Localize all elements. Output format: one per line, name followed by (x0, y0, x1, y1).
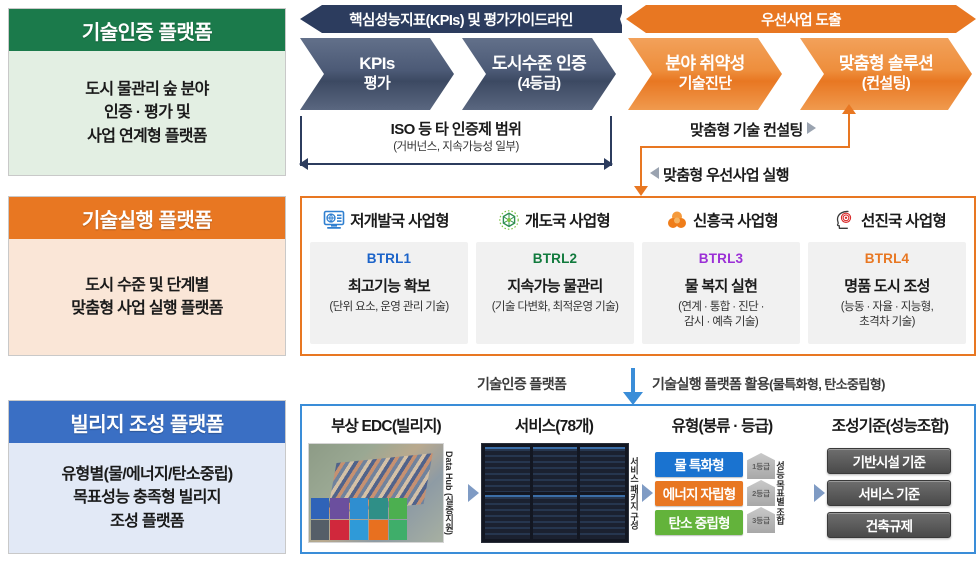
panel-certification-line: 도시 물관리 숲 분야 인증 · 평가 및 사업 연계형 플랫폼 (85, 78, 208, 148)
photo-service-tiles (311, 498, 407, 540)
btrl-panel: 저개발국 사업형 개도국 사업형 (300, 196, 976, 356)
banner-kpi-guideline: 핵심성능지표(KPIs) 및 평가가이드라인 (300, 5, 622, 33)
banner-priority-project: 우선사업 도출 (626, 5, 976, 33)
stage-2-sub: (4등급) (518, 75, 561, 93)
panel-execution-platform: 기술실행 플랫폼 도시 수준 및 단계별 맞춤형 사업 실행 플랫폼 (8, 196, 286, 356)
panel-village-body: 유형별(물/에너지/탄소중립) 목표성능 충족형 빌리지 조성 플랫폼 (9, 443, 285, 553)
label-execution-platform-usage-detail: (물특화형, 탄소중립형) (769, 377, 885, 392)
btrl-column-header-1-label: 저개발국 사업형 (350, 209, 449, 231)
village-col-types: 물 특화형 에너지 자립형 탄소 중립형 1등급 2등급 3등급 성능 목표별 … (640, 440, 810, 546)
stage-3-sub: 기술진단 (679, 75, 732, 93)
iso-scope-range: ISO 등 타 인증제 범위 (거버넌스, 지속가능성 일부) (300, 116, 612, 172)
label-custom-priority-execution: 맞춤형 우선사업 실행 (650, 164, 789, 185)
btrl-card-1[interactable]: BTRL1 최고기능 확보 (단위 요소, 운영 관리 기술) (310, 242, 468, 344)
label-custom-tech-consulting-text: 맞춤형 기술 컨설팅 (690, 122, 803, 139)
btrl-card-1-main: 최고기능 확보 (348, 275, 430, 296)
iso-scope-sublabel: (거버넌스, 지속가능성 일부) (300, 138, 612, 154)
network-node-icon (498, 209, 520, 231)
stage-4-sub: (컨설팅) (862, 75, 910, 93)
stage-1-main: KPIs (359, 54, 394, 75)
btrl-column-header-2-label: 개도국 사업형 (525, 209, 610, 231)
btrl-card-1-code: BTRL1 (367, 251, 412, 266)
village-column-title-1: 부상 EDC(빌리지) (302, 414, 470, 436)
grade-chevron-1: 1등급 (747, 453, 775, 479)
btrl-card-3[interactable]: BTRL3 물 복지 실현 (연계 · 통합 · 진단 · 감시 · 예측 기술… (642, 242, 800, 344)
label-execution-platform-usage-bold: 기술실행 플랫폼 활용 (652, 376, 769, 392)
standard-button-infrastructure[interactable]: 기반시설 기준 (827, 448, 951, 474)
btrl-card-2-sub: (기술 다변화, 최적운영 기술) (492, 300, 619, 315)
iso-range-left-arrow-icon (299, 158, 308, 170)
panel-execution-title: 기술실행 플랫폼 (9, 197, 285, 239)
connector-down-arrow-icon (634, 186, 648, 196)
stage-2-main: 도시수준 인증 (492, 54, 586, 75)
panel-certification-platform: 기술인증 플랫폼 도시 물관리 숲 분야 인증 · 평가 및 사업 연계형 플랫… (8, 8, 286, 176)
btrl-column-header-2: 개도국 사업형 (470, 198, 638, 242)
standard-button-building-regulation[interactable]: 건축규제 (827, 512, 951, 538)
standard-button-stack: 기반시설 기준 서비스 기준 건축규제 (827, 448, 951, 538)
stage-1-sub: 평가 (364, 75, 390, 93)
brain-head-icon (834, 209, 856, 231)
village-column-title-3: 유형(붕류 · 등급) (638, 414, 806, 436)
arrow-right-icon-2 (642, 484, 653, 502)
village-body-row: Data Hub (실증지원) 서비스 패키지 구성 물 특화형 에너지 자립형… (302, 436, 974, 552)
panel-certification-body: 도시 물관리 숲 분야 인증 · 평가 및 사업 연계형 플랫폼 (9, 51, 285, 175)
grade-chevron-2: 2등급 (747, 480, 775, 506)
btrl-column-header-3-label: 신흥국 사업형 (693, 209, 778, 231)
btrl-card-3-code: BTRL3 (699, 251, 744, 266)
connector-horizontal-line (640, 146, 850, 148)
type-pill-carbon[interactable]: 탄소 중립형 (655, 510, 743, 535)
btrl-column-header-3: 신흥국 사업형 (638, 198, 806, 242)
type-pill-stack: 물 특화형 에너지 자립형 탄소 중립형 (655, 452, 743, 535)
label-performance-combo: 성능 목표별 조합 (775, 461, 784, 525)
btrl-card-2-code: BTRL2 (533, 251, 578, 266)
btrl-card-4[interactable]: BTRL4 명품 도시 조성 (능동 · 자율 · 지능형, 초격차 기술) (808, 242, 966, 344)
stage-4-main: 맞춤형 솔루션 (839, 54, 933, 75)
panel-village-title: 빌리지 조성 플랫폼 (9, 401, 285, 443)
btrl-card-row: BTRL1 최고기능 확보 (단위 요소, 운영 관리 기술) BTRL2 지속… (302, 242, 974, 354)
standard-button-service[interactable]: 서비스 기준 (827, 480, 951, 506)
btrl-card-2-main: 지속가능 물관리 (507, 275, 602, 296)
infographic-root: 기술인증 플랫폼 도시 물관리 숲 분야 인증 · 평가 및 사업 연계형 플랫… (0, 0, 980, 562)
label-certification-platform-link: 기술인증 플랫폼 (477, 374, 566, 394)
village-column-title-4: 조성기준(성능조합) (806, 414, 974, 436)
village-col-edc: Data Hub (실증지원) (308, 440, 464, 546)
service-dashboard-image (481, 443, 629, 543)
stage-city-level-certification[interactable]: 도시수준 인증 (4등급) (462, 38, 616, 110)
iso-scope-label: ISO 등 타 인증제 범위 (300, 118, 612, 139)
iso-range-right-arrow-icon (604, 158, 613, 170)
connector-up-line (848, 112, 850, 148)
label-service-package: 서비스 패키지 구성 (629, 457, 638, 529)
banner-kpi-label: 핵심성능지표(KPIs) 및 평가가이드라인 (349, 9, 573, 30)
stage-kpi-evaluation[interactable]: KPIs 평가 (300, 38, 454, 110)
stage-custom-solution[interactable]: 맞춤형 솔루션 (컨설팅) (800, 38, 972, 110)
btrl-card-1-sub: (단위 요소, 운영 관리 기술) (329, 300, 448, 315)
village-column-title-2: 서비스(78개) (470, 414, 638, 436)
triangle-right-icon (807, 122, 816, 134)
btrl-card-4-code: BTRL4 (865, 251, 910, 266)
stage-vulnerability-diagnosis[interactable]: 분야 취약성 기술진단 (628, 38, 782, 110)
grade-chevron-3: 3등급 (747, 507, 775, 533)
banner-priority-label: 우선사업 도출 (761, 9, 841, 30)
arrow-right-icon-3 (814, 484, 825, 502)
label-custom-priority-execution-text: 맞춤형 우선사업 실행 (663, 167, 789, 184)
village-panel: 부상 EDC(빌리지) 서비스(78개) 유형(붕류 · 등급) 조성기준(성능… (300, 404, 976, 554)
connector-up-arrow-icon (842, 104, 856, 114)
village-col-services: 서비스 패키지 구성 (466, 440, 638, 546)
triangle-left-icon (650, 167, 659, 179)
btrl-card-3-main: 물 복지 실현 (685, 275, 757, 296)
stage-3-main: 분야 취약성 (665, 54, 744, 75)
monitor-globe-icon (323, 210, 345, 230)
btrl-column-header-4: 선진국 사업형 (806, 198, 974, 242)
btrl-card-3-sub: (연계 · 통합 · 진단 · 감시 · 예측 기술) (678, 300, 764, 330)
label-custom-tech-consulting: 맞춤형 기술 컨설팅 (690, 119, 816, 140)
panel-execution-line: 도시 수준 및 단계별 맞춤형 사업 실행 플랫폼 (71, 274, 222, 320)
aerial-village-photo (308, 443, 444, 543)
village-header-row: 부상 EDC(빌리지) 서비스(78개) 유형(붕류 · 등급) 조성기준(성능… (302, 406, 974, 436)
btrl-card-4-main: 명품 도시 조성 (844, 275, 930, 296)
grade-chevron-stack: 1등급 2등급 3등급 (747, 453, 775, 533)
arrow-right-icon-1 (468, 484, 479, 502)
btrl-card-4-sub: (능동 · 자율 · 지능형, 초격차 기술) (841, 300, 934, 330)
village-col-standards: 기반시설 기준 서비스 기준 건축규제 (812, 440, 968, 546)
iso-range-line (306, 163, 606, 165)
connector-down-line (640, 146, 642, 190)
btrl-column-header-1: 저개발국 사업형 (302, 198, 470, 242)
type-pill-water[interactable]: 물 특화형 (655, 452, 743, 477)
panel-village-platform: 빌리지 조성 플랫폼 유형별(물/에너지/탄소중립) 목표성능 충족형 빌리지 … (8, 400, 286, 554)
btrl-column-header-4-label: 선진국 사업형 (861, 209, 946, 231)
label-data-hub: Data Hub (실증지원) (444, 451, 453, 535)
label-execution-platform-usage: 기술실행 플랫폼 활용(물특화형, 탄소중립형) (652, 374, 885, 394)
panel-village-line: 유형별(물/에너지/탄소중립) 목표성능 충족형 빌리지 조성 플랫폼 (62, 463, 233, 533)
btrl-card-2[interactable]: BTRL2 지속가능 물관리 (기술 다변화, 최적운영 기술) (476, 242, 634, 344)
panel-certification-title: 기술인증 플랫폼 (9, 9, 285, 51)
btrl-header-row: 저개발국 사업형 개도국 사업형 (302, 198, 974, 242)
type-pill-energy[interactable]: 에너지 자립형 (655, 481, 743, 506)
venn-circles-icon (666, 210, 688, 230)
panel-execution-body: 도시 수준 및 단계별 맞춤형 사업 실행 플랫폼 (9, 239, 285, 355)
